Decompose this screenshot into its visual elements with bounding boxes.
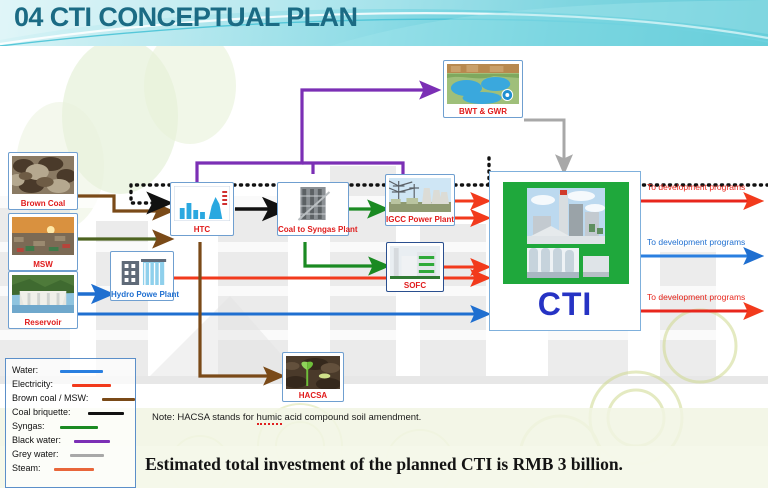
node-igcc-power-plant[interactable]: IGCC Power Plant [385, 174, 455, 226]
legend-label: Electricity: [12, 378, 53, 391]
node-label: IGCC Power Plant [386, 215, 454, 224]
syngas-plant-photo [281, 186, 345, 221]
legend-swatch [60, 370, 103, 373]
output-label-3: To development programs [647, 292, 745, 302]
node-label: Reservoir [9, 318, 77, 327]
node-hacsa[interactable]: HACSA [282, 352, 344, 402]
node-sofc[interactable]: SOFC [386, 242, 444, 292]
sofc-plant-photo [390, 246, 440, 279]
legend-swatch [60, 426, 98, 429]
page-title: 04 CTI CONCEPTUAL PLAN [14, 2, 357, 33]
slide-header: 04 CTI CONCEPTUAL PLAN [0, 0, 768, 46]
node-label: HTC [171, 225, 233, 234]
hydro-power-plant-icon [114, 255, 170, 287]
seedling-soil-photo [286, 356, 340, 389]
legend-item-black-water: Black water: [12, 434, 134, 447]
legend-swatch [72, 384, 111, 387]
note-underlined-word: humic [257, 412, 282, 425]
hacsa-note: Note: HACSA stands for humic acid compou… [152, 412, 421, 423]
brown-coal-photo [12, 156, 74, 194]
cti-green-panel [503, 182, 629, 284]
igcc-power-plant-photo [389, 178, 451, 212]
output-label-1: To development programs [647, 182, 745, 192]
legend-label: Black water: [12, 434, 61, 447]
node-reservoir[interactable]: Reservoir [8, 271, 78, 329]
node-label: Coal to Syngas Plant [278, 225, 348, 234]
legend-item-electricity: Electricity: [12, 378, 134, 391]
node-bwt-gwr[interactable]: BWT & GWR [443, 60, 523, 118]
legend-label: Syngas: [12, 420, 45, 433]
node-label: MSW [9, 260, 77, 269]
node-cti[interactable]: CTI [489, 171, 641, 331]
node-coal-to-syngas-plant[interactable]: Coal to Syngas Plant [277, 182, 349, 236]
legend-swatch [88, 412, 124, 415]
node-label: Brown Coal [9, 199, 77, 208]
slide-root: 04 CTI CONCEPTUAL PLAN [0, 0, 768, 488]
note-suffix: acid compound soil amendment. [282, 412, 421, 423]
output-label-2: To development programs [647, 237, 745, 247]
legend-label: Water: [12, 364, 38, 377]
legend-item-water: Water: [12, 364, 134, 377]
municipal-solid-waste-photo [12, 217, 74, 255]
note-prefix: Note: HACSA stands for [152, 412, 257, 423]
legend-item-coal-briquette: Coal briquette: [12, 406, 140, 419]
legend-item-brown-coal-msw: Brown coal / MSW: [12, 392, 140, 405]
legend-swatch [74, 440, 110, 443]
node-brown-coal[interactable]: Brown Coal [8, 152, 78, 210]
node-htc[interactable]: HTC [170, 182, 234, 236]
legend-label: Brown coal / MSW: [12, 392, 88, 405]
node-label: HACSA [283, 391, 343, 400]
diagram-canvas: Brown Coal MSW [0, 46, 768, 488]
legend-label: Coal briquette: [12, 406, 71, 419]
node-label: BWT & GWR [444, 107, 522, 116]
reservoir-dam-photo [12, 275, 74, 313]
cti-industrial-photo [503, 182, 629, 284]
legend-item-syngas: Syngas: [12, 420, 134, 433]
node-label: SOFC [387, 281, 443, 290]
water-treatment-photo [447, 64, 519, 104]
node-msw[interactable]: MSW [8, 213, 78, 271]
cti-label: CTI [490, 286, 640, 323]
node-hydro-power-plant[interactable]: Hydro Powe Plant [110, 251, 174, 301]
legend-swatch [102, 398, 135, 401]
node-label: Hydro Powe Plant [111, 290, 173, 299]
htc-chart-icon [174, 186, 230, 221]
investment-statement: Estimated total investment of the planne… [0, 454, 768, 475]
